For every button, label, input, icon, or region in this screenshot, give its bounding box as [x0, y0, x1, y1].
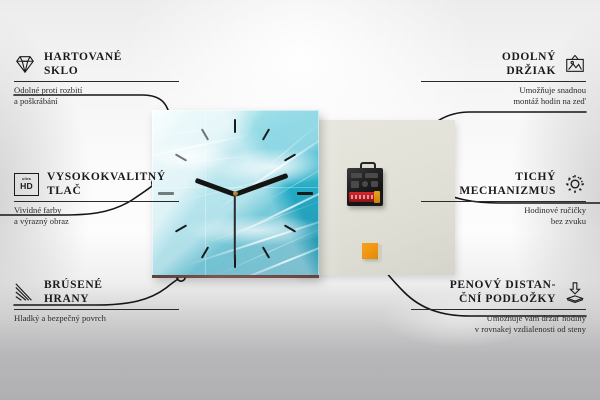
battery-label [351, 195, 375, 199]
battery-terminal [374, 191, 380, 203]
ultra-hd-badge-icon: ultra HD [14, 173, 39, 196]
clock-second-hand [234, 194, 236, 258]
feature-desc-line2: a výrazný obraz [14, 216, 69, 226]
feature-foam-spacers: PENOVÝ DISTAN- ČNÍ PODLOŽKY Umožňuje vám… [411, 278, 586, 336]
clock-hand-hub [233, 191, 238, 196]
feature-title-line1: VYSOKOKVALITNÝ [47, 171, 166, 183]
feature-desc-line1: Hodinové ručičky [524, 205, 586, 215]
ultra-hd-large-label: HD [20, 182, 33, 191]
feature-desc-line2: v rovnakej vzdialenosti od steny [475, 324, 586, 334]
feature-title-line2: DRŽIAK [506, 65, 556, 77]
feature-durable-holder: ODOLNÝ DRŽIAK Umožňuje snadnou montáž ho… [421, 50, 586, 108]
feature-desc-line2: bez zvuku [551, 216, 586, 226]
feature-divider [411, 309, 586, 310]
feature-title-line1: PENOVÝ DISTAN- [450, 279, 556, 291]
feature-divider [14, 201, 179, 202]
clock-tick [297, 192, 313, 195]
feature-title-line2: HRANY [44, 293, 89, 305]
foam-spacer-pad [362, 243, 378, 259]
feature-title-line1: ODOLNÝ [502, 51, 556, 63]
foam-spacer-arrow-icon [564, 281, 586, 303]
feature-desc-line1: Umožňuje vám držať hodiny [487, 313, 586, 323]
feature-title-line2: MECHANIZMUS [459, 185, 556, 197]
foam-spacer-pad-side [378, 245, 382, 261]
polished-edges-icon [14, 281, 36, 303]
diamond-icon [14, 53, 36, 75]
feature-high-quality-print: ultra HD VYSOKOKVALITNÝ TLAČ Vividné far… [14, 170, 179, 228]
clock-tick [234, 119, 236, 133]
feature-desc-line1: Umožňuje snadnou [519, 85, 586, 95]
feature-desc-line2: montáž hodin na zeď [513, 96, 586, 106]
feature-title-line1: TICHÝ [515, 171, 556, 183]
feature-title-line1: BRÚSENÉ [44, 279, 103, 291]
picture-frame-hook-icon [564, 53, 586, 75]
gear-icon [564, 173, 586, 195]
feature-desc-line1: Odolné proti rozbití [14, 85, 82, 95]
feature-tempered-glass: HARTOVANÉ SKLO Odolné proti rozbití a po… [14, 50, 179, 108]
feature-desc-line1: Vividné farby [14, 205, 61, 215]
feature-divider [14, 81, 179, 82]
feature-title-line2: ČNÍ PODLOŽKY [459, 293, 556, 305]
feature-silent-mechanism: TICHÝ MECHANIZMUS Hodinové ručičky bez z… [421, 170, 586, 228]
feature-polished-edges: BRÚSENÉ HRANY Hladký a bezpečný povrch [14, 278, 179, 324]
feature-desc-line2: a poškrábání [14, 96, 58, 106]
feature-divider [421, 81, 586, 82]
feature-divider [421, 201, 586, 202]
feature-divider [14, 309, 179, 310]
product-infographic: HARTOVANÉ SKLO Odolné proti rozbití a po… [0, 0, 600, 400]
feature-title-line2: SKLO [44, 65, 78, 77]
feature-desc-line1: Hladký a bezpečný povrch [14, 313, 106, 323]
feature-title-line1: HARTOVANÉ [44, 51, 122, 63]
feature-title-line2: TLAČ [47, 185, 81, 197]
